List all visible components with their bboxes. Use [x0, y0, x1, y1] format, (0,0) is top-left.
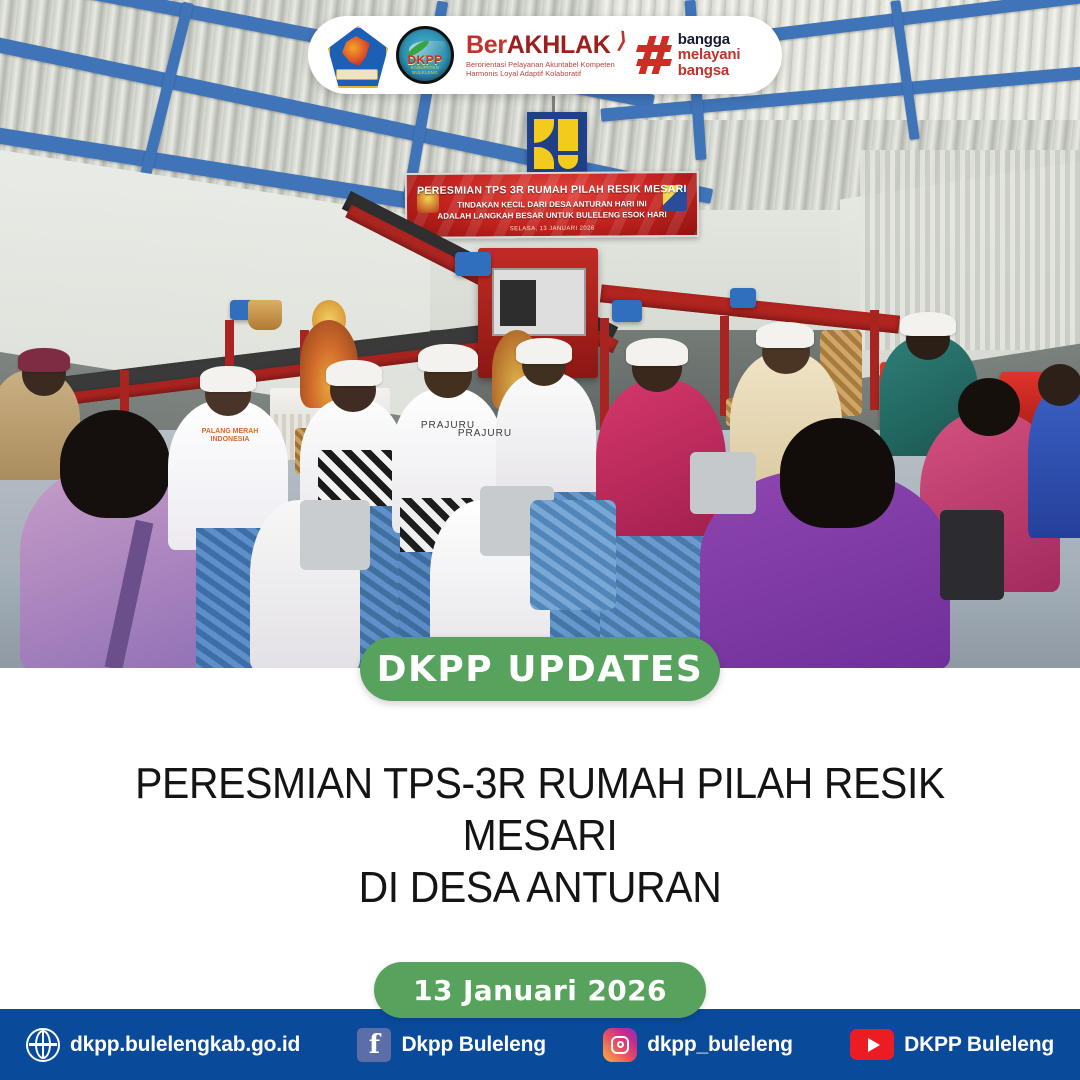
footer-item-instagram[interactable]: dkpp_buleleng	[603, 1028, 793, 1062]
instagram-icon	[603, 1028, 637, 1062]
dkpp-logo-subtitle: KABUPATEN BULELENG	[399, 65, 451, 75]
event-date-badge: 13 Januari 2026	[374, 962, 706, 1018]
frame-leg	[870, 310, 879, 410]
banner-line-2: TINDAKAN KECIL DARI DESA ANTURAN HARI IN…	[407, 198, 697, 222]
facebook-label: Dkpp Buleleng	[401, 1033, 545, 1057]
footer-item-youtube[interactable]: DKPP Buleleng	[850, 1029, 1054, 1060]
berakhlak-tagline: Berorientasi Pelayanan Akuntabel Kompete…	[466, 60, 615, 79]
dkpp-updates-badge: DKPP UPDATES	[360, 637, 720, 701]
shirt-text: PALANG MERAH INDONESIA	[190, 428, 270, 444]
page-title: PERESMIAN TPS-3R RUMAH PILAH RESIK MESAR…	[84, 758, 995, 914]
udeng-headdress	[756, 322, 814, 348]
footer-item-website[interactable]: dkpp.bulelengkab.go.id	[26, 1028, 300, 1062]
berakhlak-title-b: AKHLAK	[507, 31, 611, 59]
page-title-line2: DI DESA ANTURAN	[359, 863, 722, 912]
bangga-line2: melayani	[678, 46, 741, 63]
youtube-label: DKPP Buleleng	[904, 1033, 1054, 1057]
stool	[690, 452, 756, 514]
berakhlak-arrow-icon: ⟩	[616, 27, 630, 54]
berakhlak-tagline-line1: Berorientasi Pelayanan Akuntabel Kompete…	[466, 60, 615, 69]
event-banner: PERESMIAN TPS 3R RUMAH PILAH RESIK MESAR…	[405, 171, 699, 239]
attendee-head	[958, 378, 1020, 436]
motor	[455, 252, 491, 276]
berakhlak-tagline-line2: Harmonis Loyal Adaptif Kolaboratif	[466, 69, 581, 78]
social-footer-bar: dkpp.bulelengkab.go.id f Dkpp Buleleng d…	[0, 1009, 1080, 1080]
attendee-head	[780, 418, 895, 528]
footer-item-facebook[interactable]: f Dkpp Buleleng	[357, 1028, 545, 1062]
banner-line-3: ADALAH LANGKAH BESAR UNTUK BULELENG ESOK…	[437, 210, 666, 221]
poleng-cloth	[318, 450, 394, 506]
social-media-poster: PERESMIAN TPS 3R RUMAH PILAH RESIK MESAR…	[0, 0, 1080, 1080]
udeng-headdress	[626, 338, 688, 366]
shirt-text: PRAJURU	[430, 428, 540, 439]
motor	[730, 288, 756, 308]
berakhlak-title-a: Ber	[466, 31, 507, 59]
youtube-icon	[850, 1029, 894, 1060]
website-label: dkpp.bulelengkab.go.id	[70, 1033, 300, 1057]
attendee-head	[1038, 364, 1080, 406]
motor	[612, 300, 642, 322]
attendee-head	[60, 410, 170, 518]
public-works-sign	[527, 112, 587, 180]
buleleng-regency-crest-icon	[328, 26, 384, 84]
banner-line-1: PERESMIAN TPS 3R RUMAH PILAH RESIK MESAR…	[407, 183, 697, 197]
offering-basket	[248, 300, 282, 330]
udeng-headdress	[418, 344, 478, 372]
udeng-headdress	[18, 348, 70, 372]
bangga-melayani-bangsa-logo: bangga melayani bangsa	[637, 32, 741, 79]
udeng-headdress	[200, 366, 256, 392]
udeng-headdress	[326, 360, 382, 386]
globe-icon	[26, 1028, 60, 1062]
banner-date: SELASA, 13 JANUARI 2026	[407, 225, 697, 233]
hash-icon	[637, 36, 671, 74]
event-photo: PERESMIAN TPS 3R RUMAH PILAH RESIK MESAR…	[0, 0, 1080, 668]
machine-opening	[500, 280, 536, 326]
berakhlak-title: BerAKHLAK⟩	[466, 32, 615, 58]
facebook-icon: f	[357, 1028, 391, 1062]
dkpp-updates-label: DKPP UPDATES	[377, 649, 704, 690]
pedestal-table	[530, 500, 616, 610]
udeng-headdress	[516, 338, 572, 364]
bangga-line1: bangga	[678, 31, 730, 48]
handbag	[940, 510, 1004, 600]
attendee-blue-shirt	[1028, 388, 1080, 538]
dkpp-logo-icon: DKPP KABUPATEN BULELENG	[396, 26, 454, 84]
udeng-headdress	[900, 312, 956, 336]
header-logo-bar: DKPP KABUPATEN BULELENG BerAKHLAK⟩ Beror…	[308, 16, 782, 94]
banner-line-2a: TINDAKAN KECIL DARI DESA ANTURAN HARI IN…	[457, 199, 647, 209]
berakhlak-logo: BerAKHLAK⟩ Berorientasi Pelayanan Akunta…	[466, 32, 625, 79]
bangga-text: bangga melayani bangsa	[678, 32, 741, 79]
instagram-label: dkpp_buleleng	[647, 1033, 793, 1057]
stool	[300, 500, 370, 570]
event-date-label: 13 Januari 2026	[413, 974, 667, 1007]
bangga-line3: bangsa	[678, 62, 729, 79]
page-title-line1: PERESMIAN TPS-3R RUMAH PILAH RESIK MESAR…	[135, 759, 945, 860]
